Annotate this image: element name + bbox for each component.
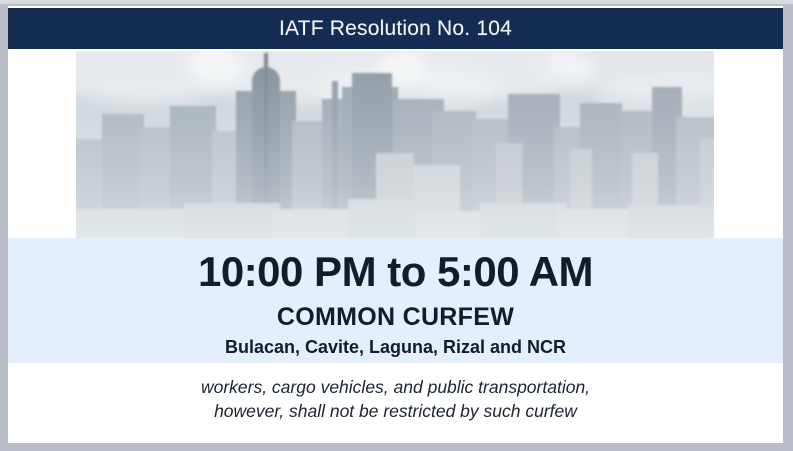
frame-top-highlight [0,0,793,4]
slide-frame: IATF Resolution No. 104 [0,0,793,451]
slide-title-bar: IATF Resolution No. 104 [8,8,783,49]
exemption-note: workers, cargo vehicles, and public tran… [8,375,783,423]
city-skyline-photo [76,51,714,239]
exemption-note-line-1: workers, cargo vehicles, and public tran… [8,375,783,399]
slide-canvas: IATF Resolution No. 104 [8,6,783,443]
exemption-note-line-2: however, shall not be restricted by such… [8,399,783,423]
curfew-heading: COMMON CURFEW [8,303,783,332]
curfew-areas-list: Bulacan, Cavite, Laguna, Rizal and NCR [8,337,783,358]
curfew-time-range: 10:00 PM to 5:00 AM [8,248,783,296]
curfew-panel: 10:00 PM to 5:00 AM COMMON CURFEW Bulaca… [8,238,783,363]
page-title: IATF Resolution No. 104 [279,17,512,41]
